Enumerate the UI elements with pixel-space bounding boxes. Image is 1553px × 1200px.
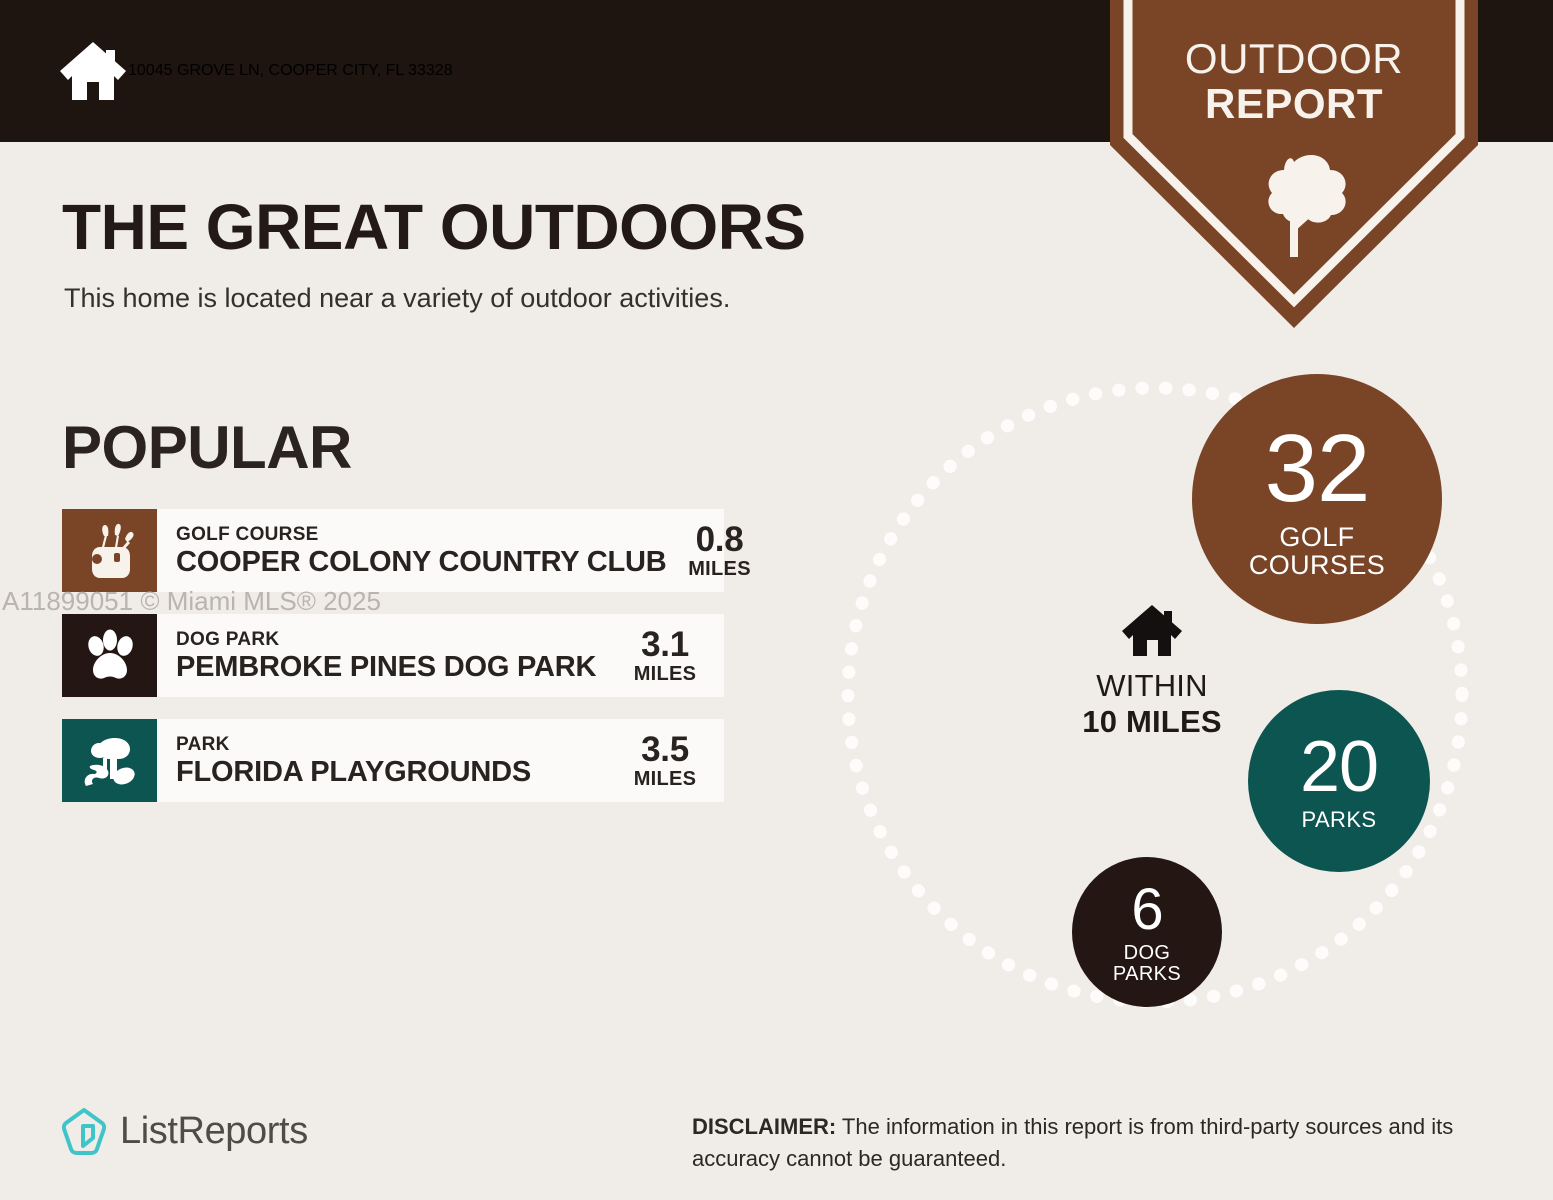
home-icon: [58, 40, 128, 102]
poi-distance: 3.5 MILES: [612, 719, 724, 802]
disclaimer-label: DISCLAIMER:: [692, 1114, 836, 1139]
golf-bag-icon-tile: [62, 509, 157, 592]
park-trees-icon: [82, 734, 138, 788]
bubble-label-line2: COURSES: [1249, 552, 1385, 580]
outdoor-report-badge: OUTDOOR REPORT: [1110, 0, 1478, 328]
bubble-label: PARKS: [1302, 809, 1377, 831]
bubble-value: 32: [1265, 423, 1370, 514]
bubble-label-line1: GOLF: [1249, 524, 1385, 552]
outdoor-report-page: 10045 GROVE LN, COOPER CITY, FL 33328 OU…: [0, 0, 1553, 1200]
within-radius-label: WITHIN 10 MILES: [1042, 602, 1262, 740]
within-line2: 10 MILES: [1042, 704, 1262, 740]
list-item[interactable]: DOG PARK PEMBROKE PINES DOG PARK 3.1 MIL…: [62, 614, 724, 697]
bubble-label-line1: DOG: [1113, 943, 1181, 963]
poi-name: PEMBROKE PINES DOG PARK: [176, 651, 612, 683]
golf-bag-icon: [84, 523, 136, 579]
page-title: THE GREAT OUTDOORS: [62, 190, 806, 264]
poi-distance: 3.1 MILES: [612, 614, 724, 697]
page-subtitle: This home is located near a variety of o…: [64, 283, 730, 314]
badge-label: OUTDOOR REPORT: [1110, 36, 1478, 126]
listreports-logo-text: ListReports: [120, 1110, 308, 1153]
poi-category: PARK: [176, 734, 612, 756]
amenities-bubble-diagram: 32 GOLF COURSES 20 PARKS 6 DOG PARKS: [820, 350, 1520, 1050]
bubble-value: 6: [1131, 882, 1162, 937]
home-icon: [1120, 602, 1184, 658]
listreports-logo-icon: [60, 1106, 108, 1156]
bubble-parks: 20 PARKS: [1248, 690, 1430, 872]
paw-print-icon: [82, 629, 138, 683]
poi-text: PARK FLORIDA PLAYGROUNDS: [157, 719, 612, 802]
badge-line2: REPORT: [1110, 81, 1478, 126]
list-item[interactable]: PARK FLORIDA PLAYGROUNDS 3.5 MILES: [62, 719, 724, 802]
poi-distance-value: 0.8: [696, 522, 744, 558]
section-title-popular: POPULAR: [62, 413, 352, 482]
poi-distance-unit: MILES: [634, 663, 697, 685]
bubble-label: DOG PARKS: [1113, 943, 1181, 984]
list-item[interactable]: GOLF COURSE COOPER COLONY COUNTRY CLUB 0…: [62, 509, 724, 592]
bubble-golf-courses: 32 GOLF COURSES: [1192, 374, 1442, 624]
bubble-label-line2: PARKS: [1113, 964, 1181, 984]
park-trees-icon-tile: [62, 719, 157, 802]
bubble-label-line1: PARKS: [1302, 809, 1377, 831]
poi-name: COOPER COLONY COUNTRY CLUB: [176, 546, 667, 578]
header-address: 10045 GROVE LN, COOPER CITY, FL 33328: [128, 62, 453, 80]
within-line1: WITHIN: [1042, 668, 1262, 704]
poi-distance: 0.8 MILES: [667, 509, 779, 592]
badge-line1: OUTDOOR: [1110, 36, 1478, 81]
listreports-logo[interactable]: ListReports: [60, 1106, 308, 1156]
paw-print-icon-tile: [62, 614, 157, 697]
disclaimer: DISCLAIMER: The information in this repo…: [692, 1111, 1492, 1175]
poi-name: FLORIDA PLAYGROUNDS: [176, 756, 612, 788]
poi-text: DOG PARK PEMBROKE PINES DOG PARK: [157, 614, 612, 697]
poi-distance-unit: MILES: [634, 768, 697, 790]
poi-category: GOLF COURSE: [176, 524, 667, 546]
poi-text: GOLF COURSE COOPER COLONY COUNTRY CLUB: [157, 509, 667, 592]
poi-distance-value: 3.5: [641, 732, 689, 768]
popular-list: GOLF COURSE COOPER COLONY COUNTRY CLUB 0…: [62, 509, 724, 824]
poi-category: DOG PARK: [176, 629, 612, 651]
bubble-value: 20: [1300, 733, 1378, 801]
bubble-label: GOLF COURSES: [1249, 524, 1385, 579]
poi-distance-unit: MILES: [688, 558, 751, 580]
poi-distance-value: 3.1: [641, 627, 689, 663]
bubble-dog-parks: 6 DOG PARKS: [1072, 857, 1222, 1007]
